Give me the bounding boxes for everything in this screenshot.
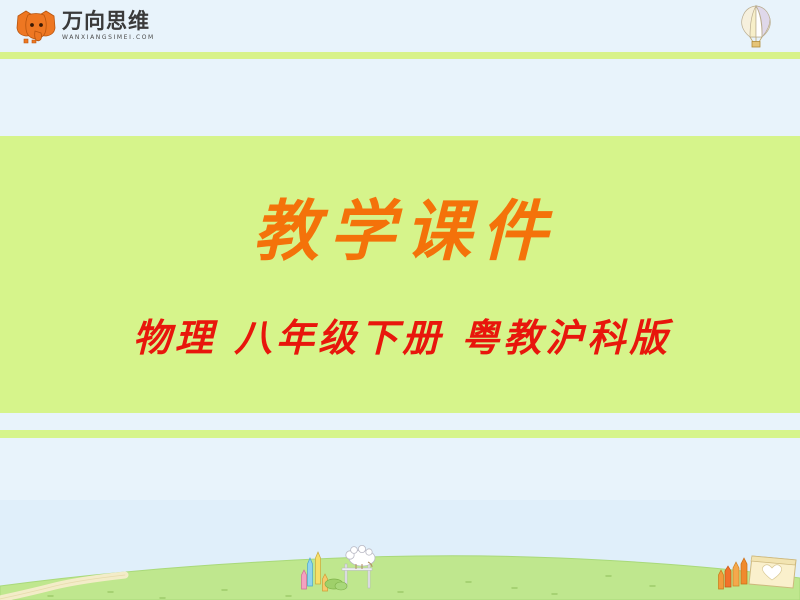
- elephant-icon: [14, 8, 58, 44]
- presentation-slide: 万向思维 WANXIANGSIMEI.COM 教学课件 物理 八年级下册 粤教沪…: [0, 0, 800, 600]
- thin-green-band: [0, 430, 800, 438]
- top-green-band: [0, 52, 800, 59]
- brand-name-en: WANXIANGSIMEI.COM: [62, 35, 155, 41]
- page-title: 教学课件: [0, 192, 800, 271]
- brand-name-cn: 万向思维: [62, 11, 155, 32]
- hot-air-balloon-icon: [736, 4, 776, 48]
- bottom-landscape: [0, 500, 800, 600]
- main-green-panel: [0, 136, 800, 413]
- brand-text: 万向思维 WANXIANGSIMEI.COM: [62, 11, 155, 41]
- brand-logo: 万向思维 WANXIANGSIMEI.COM: [14, 6, 164, 46]
- page-subtitle: 物理 八年级下册 粤教沪科版: [0, 316, 800, 362]
